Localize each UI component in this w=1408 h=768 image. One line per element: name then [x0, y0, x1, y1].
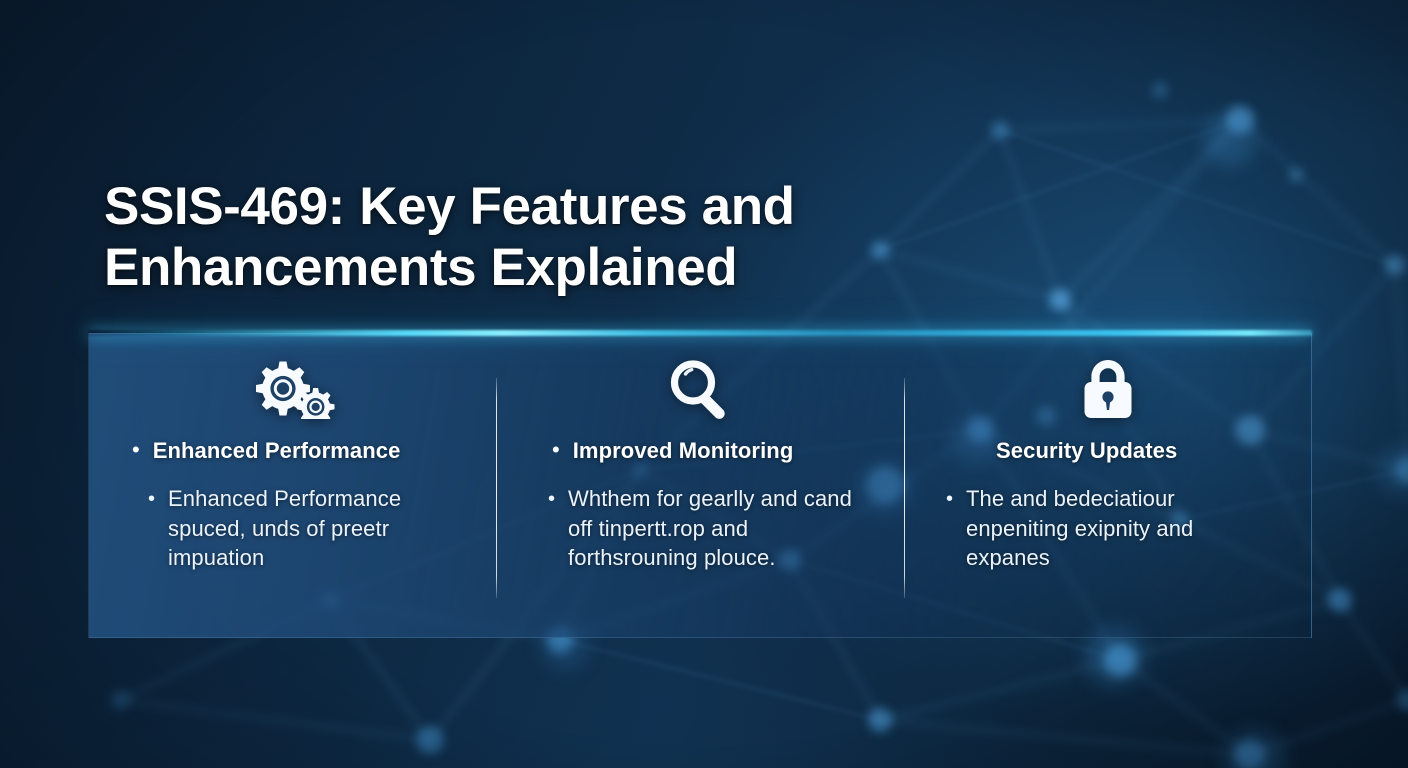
gears-icon	[108, 358, 476, 420]
feature-card-improved-monitoring: • Improved Monitoring • Whthem for gearl…	[496, 333, 904, 638]
feature-body-row: • Whthem for gearlly and cand off tinper…	[516, 484, 884, 572]
page-title: SSIS-469: Key Features and Enhancements …	[104, 176, 1164, 299]
bullet-icon: •	[132, 439, 140, 461]
bullet-icon: •	[552, 439, 560, 461]
feature-card-security-updates: Security Updates • The and bedeciatiour …	[904, 333, 1312, 638]
feature-heading-row: • Improved Monitoring	[516, 438, 884, 464]
lock-icon	[924, 358, 1292, 420]
bullet-icon: •	[548, 484, 555, 514]
magnifier-icon	[516, 358, 884, 420]
feature-heading: Security Updates	[996, 438, 1177, 464]
feature-heading-row: Security Updates	[924, 438, 1292, 464]
feature-heading: Improved Monitoring	[573, 438, 794, 464]
feature-body-row: • The and bedeciatiour enpeniting exipni…	[924, 484, 1292, 572]
feature-heading: Enhanced Performance	[153, 438, 401, 464]
feature-body-row: • Enhanced Performance spuced, unds of p…	[108, 484, 476, 572]
feature-card-enhanced-performance: • Enhanced Performance • Enhanced Perfor…	[88, 333, 496, 638]
feature-body: The and bedeciatiour enpeniting exipnity…	[966, 484, 1282, 572]
slide-canvas: SSIS-469: Key Features and Enhancements …	[0, 0, 1408, 768]
bullet-icon: •	[148, 484, 155, 514]
feature-body: Whthem for gearlly and cand off tinpertt…	[568, 484, 874, 572]
feature-heading-row: • Enhanced Performance	[108, 438, 476, 464]
features-columns: • Enhanced Performance • Enhanced Perfor…	[88, 333, 1312, 638]
bullet-icon: •	[946, 484, 953, 514]
feature-body: Enhanced Performance spuced, unds of pre…	[168, 484, 466, 572]
